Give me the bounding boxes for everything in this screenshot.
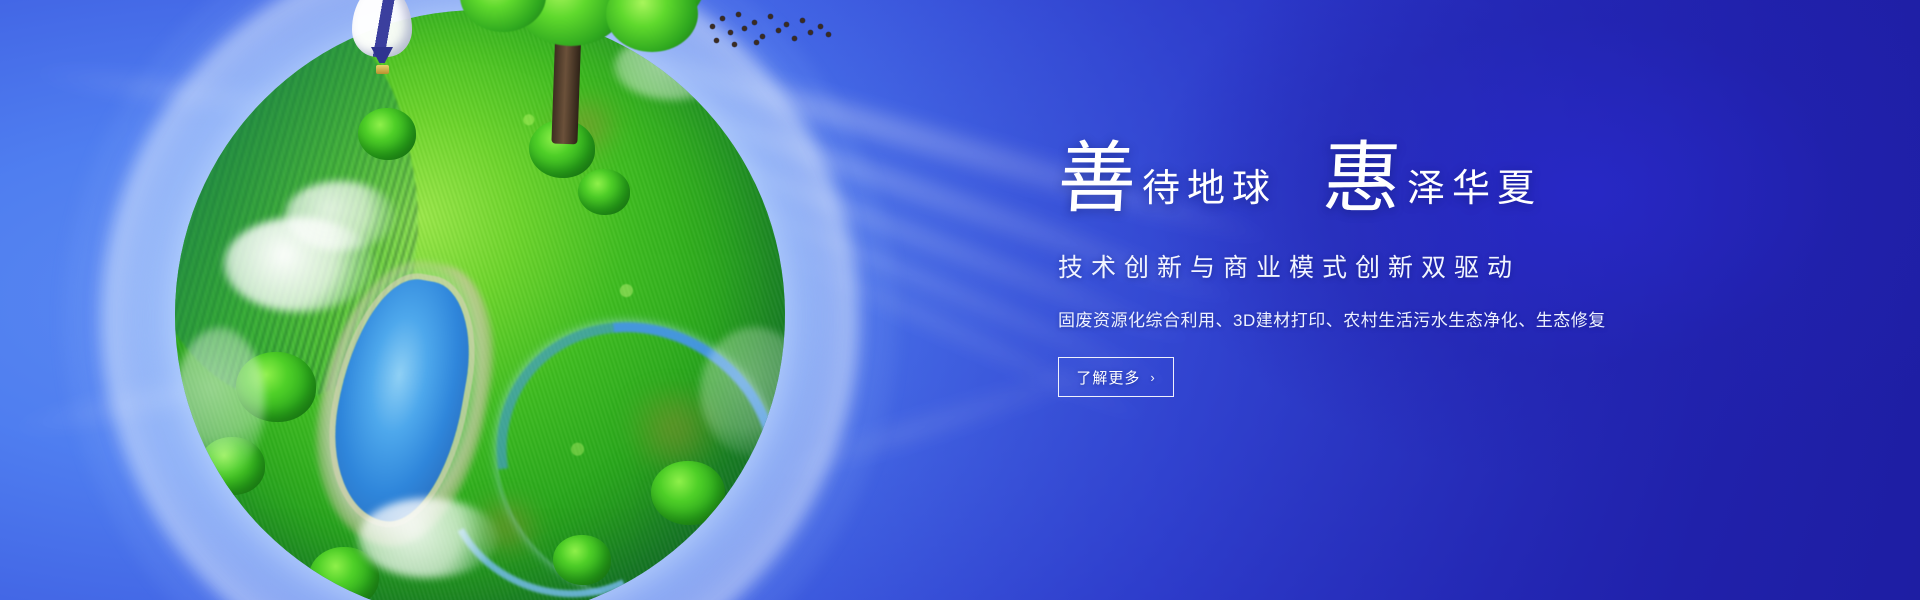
surface-cloud [285, 181, 395, 251]
hero-copy: 善 待地球 惠 泽华夏 技术创新与商业模式创新双驱动 固废资源化综合利用、3D建… [1058, 140, 1698, 397]
tree-canopy [651, 461, 725, 525]
headline-big-1: 善 [1056, 140, 1144, 218]
tree-canopy [578, 169, 630, 215]
headline-big-2: 惠 [1321, 140, 1409, 218]
hero-banner: 善 待地球 惠 泽华夏 技术创新与商业模式创新双驱动 固废资源化综合利用、3D建… [0, 0, 1920, 600]
tree-canopy [553, 535, 611, 585]
hero-subline: 技术创新与商业模式创新双驱动 [1058, 248, 1698, 284]
headline-small-1: 待地球 [1142, 170, 1277, 218]
surface-cloud [358, 498, 498, 578]
surface-cloud [175, 327, 265, 477]
headline-small-2: 泽华夏 [1407, 170, 1542, 218]
tree-canopy [358, 108, 416, 160]
bird-flock [708, 6, 838, 52]
earth-globe [120, 0, 840, 600]
chevron-right-icon: › [1150, 371, 1155, 384]
hot-air-balloon [352, 0, 412, 80]
learn-more-label: 了解更多 [1076, 367, 1140, 388]
hero-headline: 善 待地球 惠 泽华夏 [1058, 140, 1698, 218]
hero-detail: 固废资源化综合利用、3D建材打印、农村生活污水生态净化、生态修复 [1058, 306, 1698, 331]
learn-more-button[interactable]: 了解更多 › [1058, 357, 1174, 397]
balloon-basket [376, 65, 389, 74]
crown-tree [420, 0, 720, 134]
